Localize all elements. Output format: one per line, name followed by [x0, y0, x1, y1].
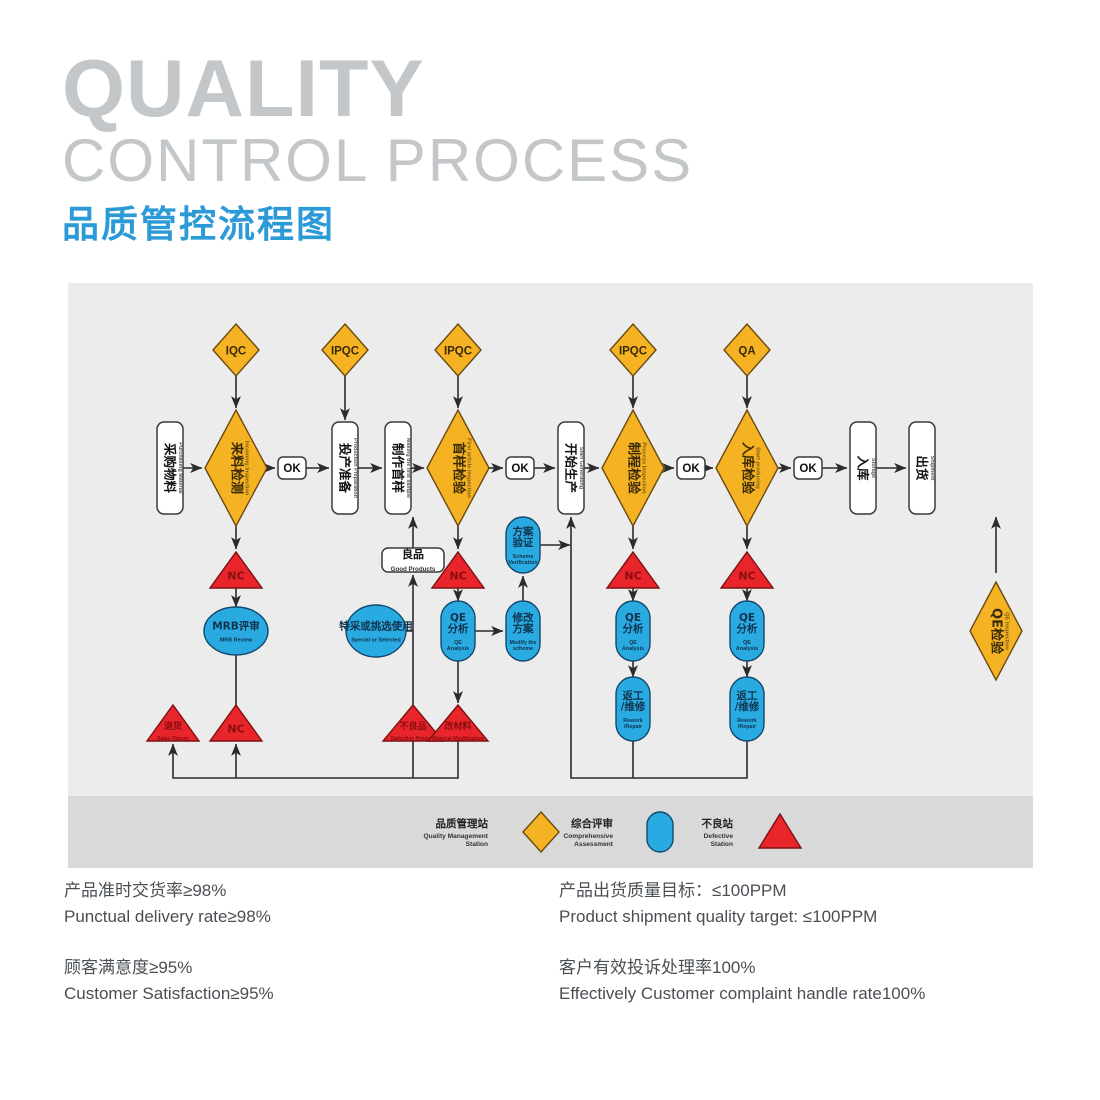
node-good[interactable]: 良品Good Products: [382, 547, 444, 573]
node-label: OK: [799, 463, 817, 475]
legend-label-cn: 品质管理站: [436, 817, 489, 830]
node-sales-return[interactable]: 退货Sales Return: [147, 705, 199, 742]
node-label-cn: 不良品: [399, 720, 426, 732]
link-rework2-bus: [633, 741, 747, 778]
node-label-cn: 来料检测: [229, 441, 245, 494]
node-label-en: Analysis: [736, 646, 758, 652]
kpi-shipment: 产品出货质量目标：≤100PPM Product shipment qualit…: [549, 878, 1044, 929]
node-label-en: Production Preparation: [352, 438, 358, 498]
node-label-en: Verification: [508, 560, 537, 566]
node-label-cn: 投产准备: [338, 443, 353, 494]
node-label-cn: /维修: [735, 700, 760, 713]
node-label-en: Shipment: [929, 456, 935, 481]
legend-label-cn: 综合评审: [571, 817, 613, 830]
kpi-satisfaction-cn: 顾客满意度≥95%: [64, 955, 549, 981]
node-scheme-ver[interactable]: 方案验证SchemeVerification: [506, 517, 540, 573]
node-qe2[interactable]: QE分析QEAnalysis: [616, 601, 650, 661]
node-nc4[interactable]: NC: [607, 552, 659, 588]
node-qe3[interactable]: QE分析QEAnalysis: [730, 601, 764, 661]
station-label: IQC: [226, 346, 246, 358]
legend-diamond-icon: [523, 812, 559, 852]
node-nc5[interactable]: NC: [721, 552, 773, 588]
node-modify[interactable]: 修改方案Modify thescheme: [506, 601, 540, 661]
legend-label-en: Defective: [704, 833, 734, 840]
node-process-insp[interactable]: 制程检验Process Inspection: [602, 410, 664, 526]
node-purchasing[interactable]: 采购物料Purchasing Material: [157, 422, 183, 514]
node-label-en: Good Products: [391, 566, 436, 573]
node-label-cn: 分析: [448, 622, 469, 635]
station-ipqc3[interactable]: IPQC: [610, 324, 656, 376]
node-label-en: Purchasing Material: [177, 442, 183, 494]
node-label-en: Making the first sample: [405, 438, 411, 498]
node-label-cn: 良品: [402, 547, 424, 561]
title-quality: QUALITY: [62, 52, 962, 127]
node-label-cn: NC: [738, 569, 755, 582]
legend-label-en: Station: [466, 841, 488, 848]
kpi-footer: 产品准时交货率≥98% Punctual delivery rate≥98% 产…: [64, 878, 1044, 1032]
node-storage[interactable]: 入库Storage: [850, 422, 876, 514]
node-label-en: Material Modification: [432, 736, 484, 742]
node-label-cn: 制程检验: [626, 442, 642, 495]
node-ok4[interactable]: OK: [794, 457, 822, 479]
node-ok3[interactable]: OK: [677, 457, 705, 479]
node-label-cn: 入库: [856, 455, 871, 481]
node-label-en: First article inspection: [465, 438, 471, 498]
station-label: IPQC: [331, 346, 359, 358]
station-qa[interactable]: QA: [724, 324, 770, 376]
link-materialmod-salesreturn: [173, 741, 458, 778]
node-label-en: Special or Selected: [351, 638, 400, 644]
node-label-en: /Repair: [738, 724, 757, 730]
node-start-prod[interactable]: 开始生产Start Generating: [558, 422, 584, 514]
kpi-shipment-en: Product shipment quality target: ≤100PPM: [559, 904, 1044, 930]
station-iqc[interactable]: IQC: [213, 324, 259, 376]
page-header: QUALITY CONTROL PROCESS 品质管控流程图: [62, 52, 962, 245]
kpi-complaint-en: Effectively Customer complaint handle ra…: [559, 981, 1044, 1007]
node-label-cn: 分析: [737, 622, 758, 635]
node-special[interactable]: 特采或挑选使用Special or Selected: [339, 605, 413, 657]
kpi-row-2: 顾客满意度≥95% Customer Satisfaction≥95% 客户有效…: [64, 955, 1044, 1006]
node-label-en: MRB Review: [220, 638, 253, 644]
node-label: OK: [283, 463, 301, 475]
node-label-cn: 改材料: [444, 720, 471, 732]
node-label-cn: NC: [227, 569, 244, 582]
node-mrb[interactable]: MRB评审MRB Review: [204, 607, 268, 655]
node-label-cn: 特采或挑选使用: [339, 619, 413, 632]
node-label-en: Process Inspection: [640, 442, 646, 494]
node-label-en: QE Inspection: [1003, 612, 1009, 650]
station-label: IPQC: [444, 346, 472, 358]
title-chinese: 品质管控流程图: [62, 191, 962, 246]
node-label-cn: NC: [227, 722, 244, 735]
legend-item-legend-defect: 不良站DefectiveStation: [702, 814, 802, 848]
node-label-cn: 方案: [513, 622, 534, 635]
node-label-cn: MRB评审: [212, 619, 260, 632]
kpi-satisfaction-en: Customer Satisfaction≥95%: [64, 981, 549, 1007]
node-qe-insp[interactable]: QE检验QE Inspection: [970, 582, 1022, 680]
kpi-satisfaction: 顾客满意度≥95% Customer Satisfaction≥95%: [64, 955, 549, 1006]
kpi-row-1: 产品准时交货率≥98% Punctual delivery rate≥98% 产…: [64, 878, 1044, 929]
kpi-delivery: 产品准时交货率≥98% Punctual delivery rate≥98%: [64, 878, 549, 929]
station-label: QA: [738, 346, 755, 358]
node-label-cn: 制作首样: [391, 443, 406, 494]
node-storage-insp[interactable]: 入库检验Start producing: [716, 410, 778, 526]
station-ipqc2[interactable]: IPQC: [435, 324, 481, 376]
node-ok1[interactable]: OK: [278, 457, 306, 479]
legend-triangle-icon: [759, 814, 801, 848]
flowchart: IQCIPQCIPQCIPQCQA采购物料Purchasing Material…: [68, 283, 1033, 868]
legend-label-en: Quality Management: [424, 833, 489, 840]
node-qe1[interactable]: QE分析QEAnalysis: [441, 601, 475, 661]
node-label-en: Analysis: [622, 646, 644, 652]
node-label-en: /Repair: [624, 724, 643, 730]
kpi-complaint-cn: 客户有效投诉处理率100%: [559, 955, 1044, 981]
node-label-cn: 入库检验: [740, 442, 756, 495]
node-label-cn: 采购物料: [163, 442, 178, 494]
node-label-cn: NC: [449, 569, 466, 582]
node-first-sample[interactable]: 制作首样Making the first sample: [385, 422, 411, 514]
node-label-en: Analysis: [447, 646, 469, 652]
kpi-shipment-cn: 产品出货质量目标：≤100PPM: [559, 878, 1044, 904]
legend-label-en: Comprehensive: [564, 833, 614, 840]
node-label: OK: [511, 463, 529, 475]
node-first-insp[interactable]: 首样检验First article inspection: [427, 410, 489, 526]
node-prod-prep[interactable]: 投产准备Production Preparation: [332, 422, 358, 514]
node-shipment[interactable]: 出货Shipment: [909, 422, 935, 514]
node-label-en: Storage: [870, 458, 876, 478]
node-label-cn: NC: [624, 569, 641, 582]
node-ok2[interactable]: OK: [506, 457, 534, 479]
node-label-en: Incoming Inspection: [243, 441, 249, 496]
node-label-en: Start Generating: [578, 447, 584, 489]
node-label-en: Sales Return: [157, 736, 189, 742]
node-label-cn: QE检验: [989, 608, 1005, 655]
node-material-mod[interactable]: 改材料Material Modification: [428, 705, 488, 742]
legend-label-en: Assessment: [574, 841, 614, 848]
legend-item-legend-review: 综合评审ComprehensiveAssessment: [564, 812, 673, 852]
node-label-cn: 分析: [623, 622, 644, 635]
node-label-cn: 出货: [915, 455, 930, 481]
node-label-cn: /维修: [621, 700, 646, 713]
node-rework2[interactable]: 返工/维修Rework/Repair: [730, 677, 764, 741]
kpi-delivery-en: Punctual delivery rate≥98%: [64, 904, 549, 930]
node-rework1[interactable]: 返工/维修Rework/Repair: [616, 677, 650, 741]
legend-label-cn: 不良站: [702, 817, 734, 830]
node-nc1[interactable]: NC: [210, 552, 262, 588]
node-label-cn: 退货: [164, 720, 182, 732]
node-label-cn: 开始生产: [564, 443, 579, 493]
title-control-process: CONTROL PROCESS: [62, 127, 962, 191]
station-label: IPQC: [619, 346, 647, 358]
node-label-en: Start producing: [754, 447, 760, 489]
node-label-cn: 首样检验: [451, 442, 467, 495]
node-label-cn: 验证: [513, 536, 534, 549]
node-label-en: scheme: [513, 646, 533, 652]
legend-item-legend-quality: 品质管理站Quality ManagementStation: [424, 812, 560, 852]
legend-pill-icon: [647, 812, 673, 852]
quality-control-poster: QUALITY CONTROL PROCESS 品质管控流程图 IQCIPQCI…: [0, 0, 1100, 1100]
kpi-complaint: 客户有效投诉处理率100% Effectively Customer compl…: [549, 955, 1044, 1006]
node-label: OK: [682, 463, 700, 475]
legend-label-en: Station: [711, 841, 733, 848]
node-incoming[interactable]: 来料检测Incoming Inspection: [205, 410, 267, 526]
node-nc2[interactable]: NC: [210, 705, 262, 741]
station-ipqc1[interactable]: IPQC: [322, 324, 368, 376]
kpi-delivery-cn: 产品准时交货率≥98%: [64, 878, 549, 904]
